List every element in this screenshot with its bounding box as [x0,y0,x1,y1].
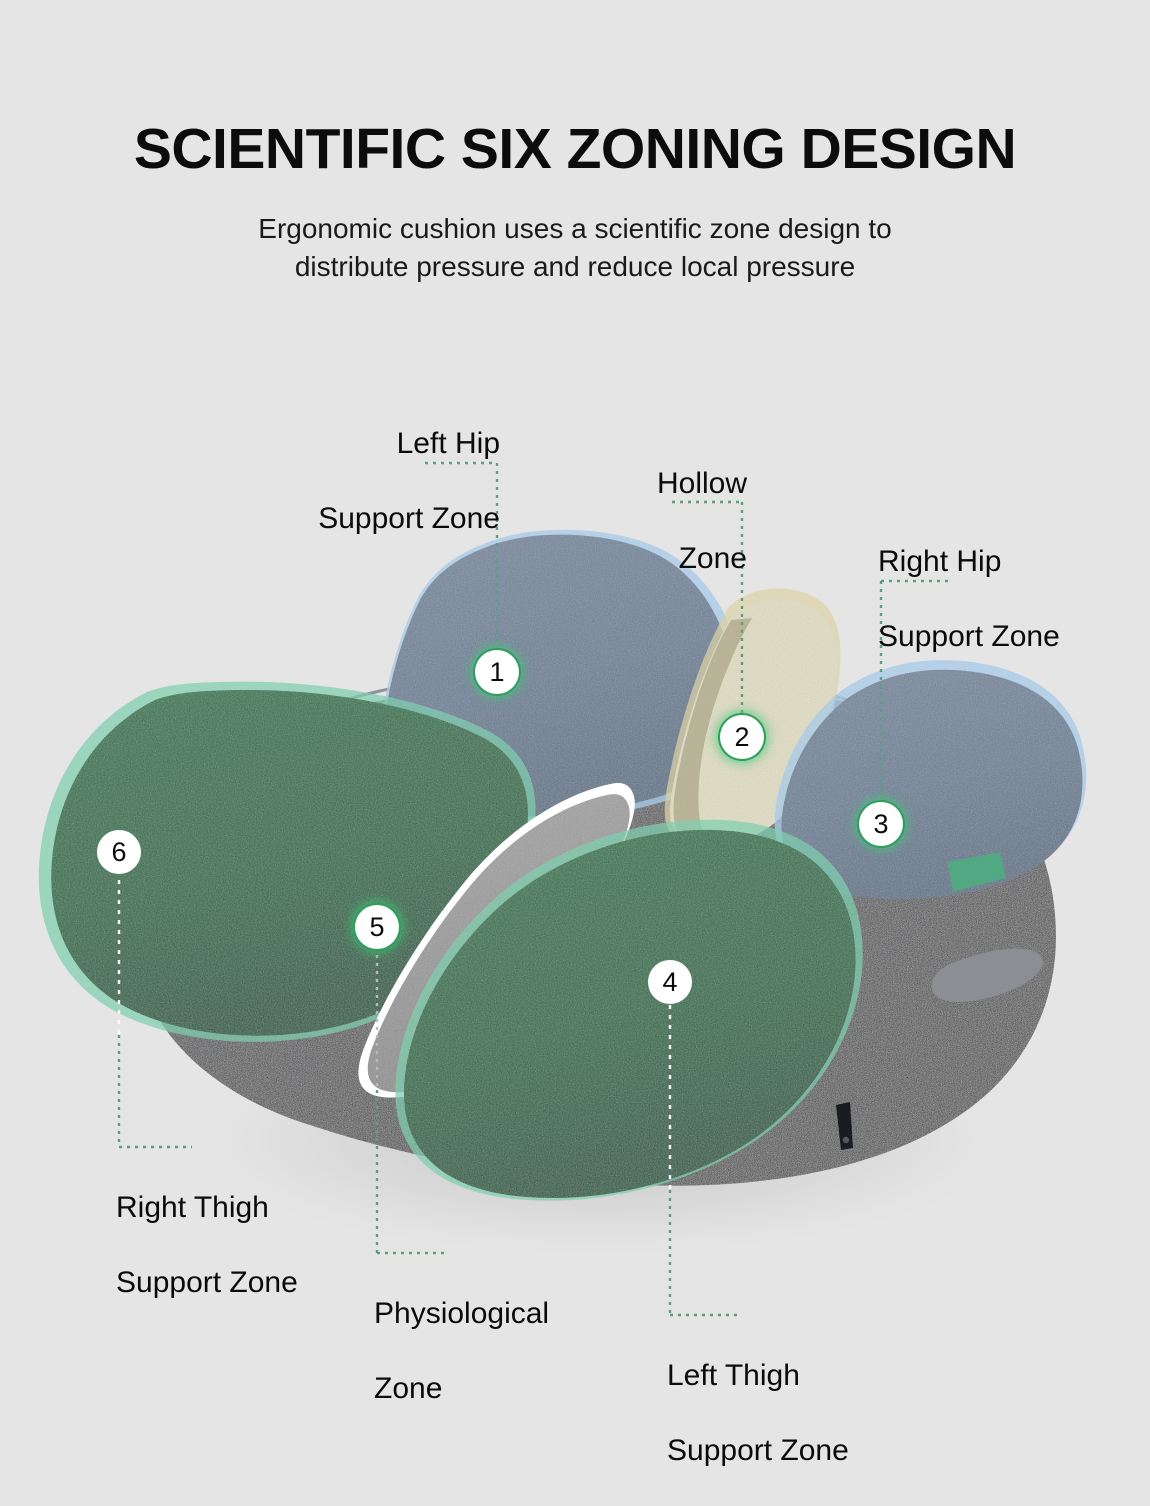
callout-right-thigh: Right Thigh Support Zone [116,1152,416,1338]
callout-physiological-line1: Physiological [374,1295,704,1332]
callout-left-thigh: Left Thigh Support Zone [667,1320,967,1506]
zone-badge-4[interactable]: 4 [648,960,692,1004]
callout-left-thigh-line2: Support Zone [667,1432,967,1469]
callout-left-thigh-line1: Left Thigh [667,1357,967,1394]
callout-left-hip: Left Hip Support Zone [200,388,500,574]
zipper-hole [843,1137,849,1143]
callout-physiological: Physiological Zone [374,1258,704,1444]
zone-badge-6[interactable]: 6 [97,830,141,874]
cushion-diagram: 1 2 3 4 5 6 Left Hip Support Zone Hollow… [0,0,1150,1499]
callout-left-hip-line1: Left Hip [200,425,500,462]
callout-right-hip-line2: Support Zone [878,618,1138,655]
callout-right-hip: Right Hip Support Zone [878,506,1138,692]
callout-left-hip-line2: Support Zone [200,500,500,537]
callout-hollow: Hollow Zone [505,428,747,614]
callout-right-thigh-line1: Right Thigh [116,1189,416,1226]
callout-hollow-line2: Zone [505,540,747,577]
callout-physiological-line2: Zone [374,1370,704,1407]
callout-hollow-line1: Hollow [505,465,747,502]
callout-right-thigh-line2: Support Zone [116,1264,416,1301]
zone-badge-5[interactable]: 5 [355,905,399,949]
zone-badge-1[interactable]: 1 [475,650,519,694]
infographic-root: SCIENTIFIC SIX ZONING DESIGN Ergonomic c… [0,0,1150,1499]
zone-badge-3[interactable]: 3 [859,802,903,846]
callout-right-hip-line1: Right Hip [878,543,1138,580]
zone-badge-2[interactable]: 2 [720,715,764,759]
